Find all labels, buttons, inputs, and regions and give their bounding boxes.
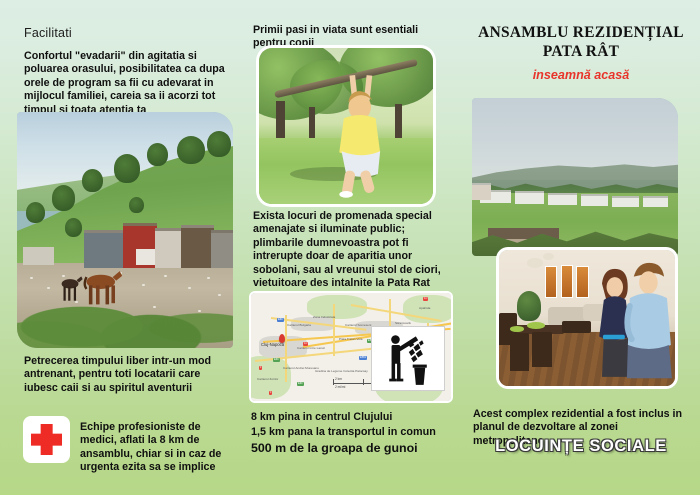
map-place-label: Cartierul Someseni — [345, 323, 371, 327]
child-figure — [325, 73, 388, 198]
map-place-label: Cartierul Andrei Muresanu — [283, 366, 319, 370]
person-throwing-garbage-icon — [372, 327, 444, 390]
distance-list: 8 km pina in centrul Clujului 1,5 km pan… — [251, 410, 461, 456]
map-place-label: Gradina de Legume Colectia Palocsay — [315, 369, 371, 373]
map-place-label: Sânnicoară — [395, 321, 411, 325]
map-shield: 1C — [423, 297, 428, 301]
horse-icon — [77, 263, 125, 315]
title-line-2: PATA RÂT — [468, 43, 694, 62]
left-panel-photo-caption: Petrecerea timpului liber intr-un mod an… — [24, 355, 232, 395]
distance-item: 1,5 km pana la transportul in comun — [251, 425, 461, 440]
map-shield: E60 — [277, 318, 284, 322]
title-line-1: ANSAMBLU REZIDENȚIAL — [468, 24, 694, 43]
map-shield: E581 — [359, 356, 367, 360]
map-place-label: Cartierul Zorilor — [257, 377, 278, 381]
map-place-label: Cartierul Bulgaria — [287, 323, 311, 327]
map-city-label: Cluj-Napoca — [261, 342, 284, 347]
brochure-page: Facilitati Confortul "evadarii" din agit… — [0, 0, 700, 495]
map-place-label: Zona Industriala — [313, 315, 335, 319]
man-figure — [622, 253, 675, 386]
left-panel-intro: Confortul "evadarii" din agitatia si pol… — [24, 50, 230, 117]
shanty-town-photo — [17, 112, 233, 348]
foal-icon — [56, 268, 84, 313]
middle-panel-heading: Primii pasi in viata sunt esentiali pent… — [253, 24, 453, 51]
couple-interior-photo — [499, 250, 675, 386]
map-place-label: Piata Traian Vuia — [339, 337, 362, 341]
map-place-label: Cartierul Intre Lacuri — [297, 346, 325, 350]
child-in-park-photo — [259, 48, 433, 204]
map-shield: E60 — [297, 382, 304, 386]
distance-item: 500 m de la groapa de gunoi — [251, 440, 461, 456]
red-cross-icon — [23, 416, 70, 463]
area-map-photo: E60 1C E576 E581 1C 1 1 E60 E60 Cluj-Nap… — [251, 293, 451, 401]
map-shield: E60 — [273, 358, 280, 362]
page-subtitle: inseamnă acasă — [468, 68, 694, 82]
footer-heading: LOCUINȚE SOCIALE — [468, 437, 694, 456]
distance-item: 8 km pina in centrul Clujului — [251, 410, 461, 425]
page-title: ANSAMBLU REZIDENȚIAL PATA RÂT — [468, 24, 694, 61]
map-scale-km: 2 km — [335, 377, 342, 381]
map-place-label: Apahida — [419, 306, 430, 310]
left-panel-heading: Facilitati — [24, 26, 224, 40]
left-panel-medical-text: Echipe profesioniste de medici, aflati l… — [80, 421, 232, 475]
middle-panel-paragraph: Exista locuri de promenada special amena… — [253, 210, 451, 290]
container-housing-photo: PRODUS DE CLUJ — [472, 98, 678, 256]
map-scale-mi: 2 mi/mi — [335, 385, 345, 389]
garbage-callout-box — [371, 326, 445, 391]
